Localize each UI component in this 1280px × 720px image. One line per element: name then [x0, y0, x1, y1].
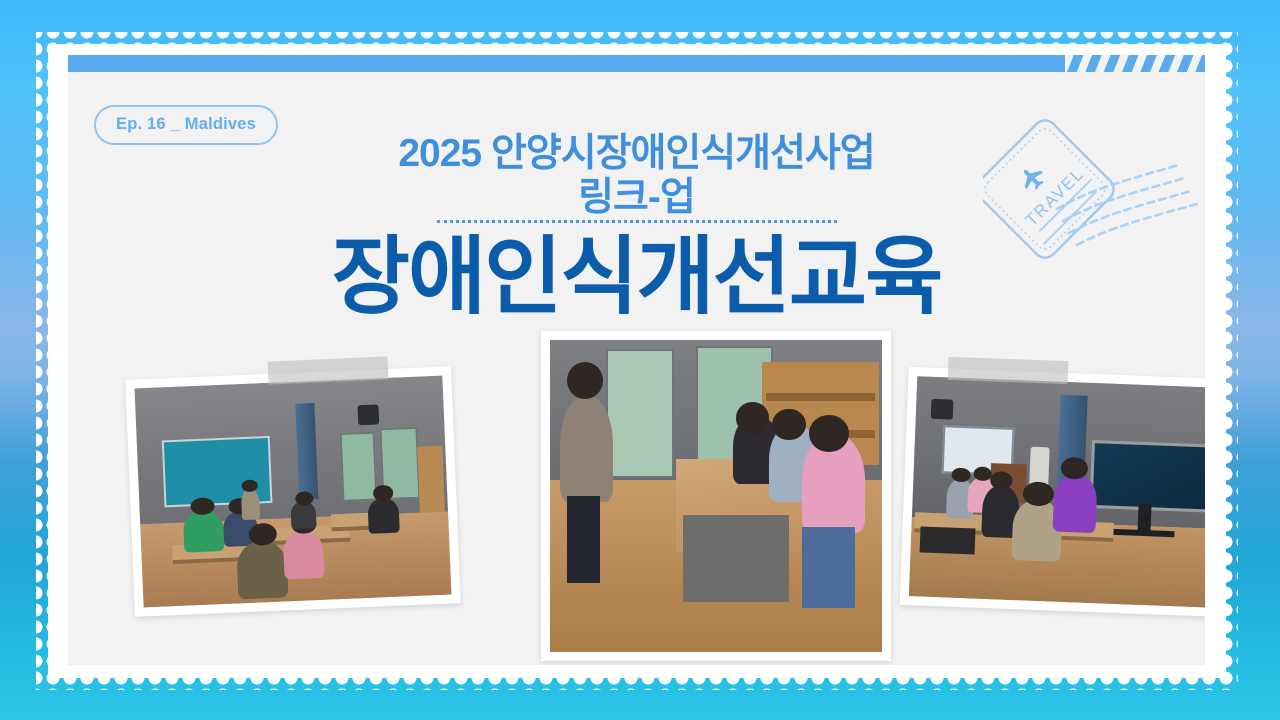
photo-right-image: [909, 376, 1205, 608]
dotted-divider: [437, 220, 837, 223]
card-inner-panel: Ep. 16 _ Maldives TRAVEL: [68, 55, 1205, 665]
subtitle-line-2: 링크-업: [578, 176, 695, 219]
accent-bar-stripes: [1065, 55, 1205, 72]
photo-left-image: [135, 376, 452, 608]
photo-center-image: [550, 340, 882, 652]
subtitle-line-2-wrapper: 링크-업: [68, 177, 1205, 219]
photo-center: [541, 331, 891, 661]
photo-collage: [68, 345, 1205, 665]
photo-right: [900, 367, 1205, 617]
accent-bar-solid: [68, 55, 1065, 72]
heading-block: 2025 안양시장애인식개선사업 링크-업 장애인식개선교육: [68, 133, 1205, 322]
subtitle-line-1: 2025 안양시장애인식개선사업: [68, 133, 1205, 175]
poster-stage: Ep. 16 _ Maldives TRAVEL: [0, 0, 1280, 720]
top-accent-bar: [68, 55, 1205, 72]
tape-strip-right: [948, 357, 1069, 384]
page-title: 장애인식개선교육: [68, 233, 1205, 322]
photo-left: [125, 366, 461, 616]
